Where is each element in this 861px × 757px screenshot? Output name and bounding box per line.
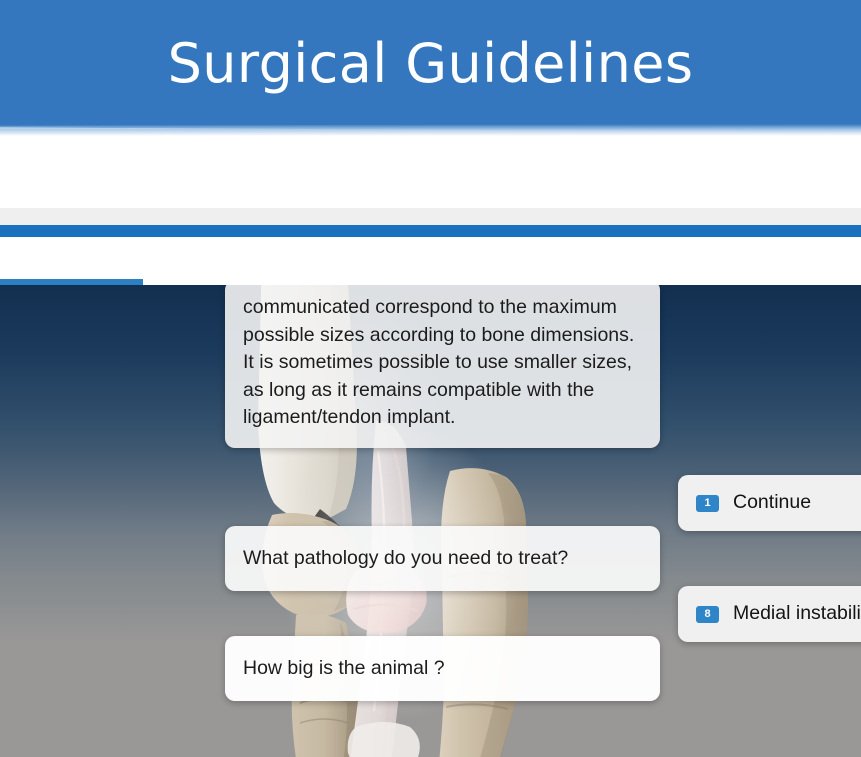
slide-stage: communicated correspond to the maximum p… — [0, 285, 861, 757]
header-white-gap — [0, 140, 861, 208]
divider-band-gray — [0, 208, 861, 225]
chat-bubble-assistant-answer: communicated correspond to the maximum p… — [225, 285, 660, 448]
chat-bubble-question-pathology: What pathology do you need to treat? — [225, 526, 660, 591]
option-label: Continue — [733, 493, 811, 513]
page-title: Surgical Guidelines — [0, 0, 861, 128]
secondary-white-gap — [0, 237, 861, 280]
divider-band-blue — [0, 225, 861, 237]
page-banner: Surgical Guidelines — [0, 0, 861, 140]
option-button-medial-instability[interactable]: 8 Medial instability — [678, 586, 861, 642]
option-badge-number: 8 — [696, 606, 719, 623]
banner-bottom-sliver — [0, 124, 861, 136]
option-label: Medial instability — [733, 604, 861, 624]
option-button-continue[interactable]: 1 Continue — [678, 475, 861, 531]
chat-bubble-question-animal-size: How big is the animal ? — [225, 636, 660, 701]
option-badge-number: 1 — [696, 495, 719, 512]
